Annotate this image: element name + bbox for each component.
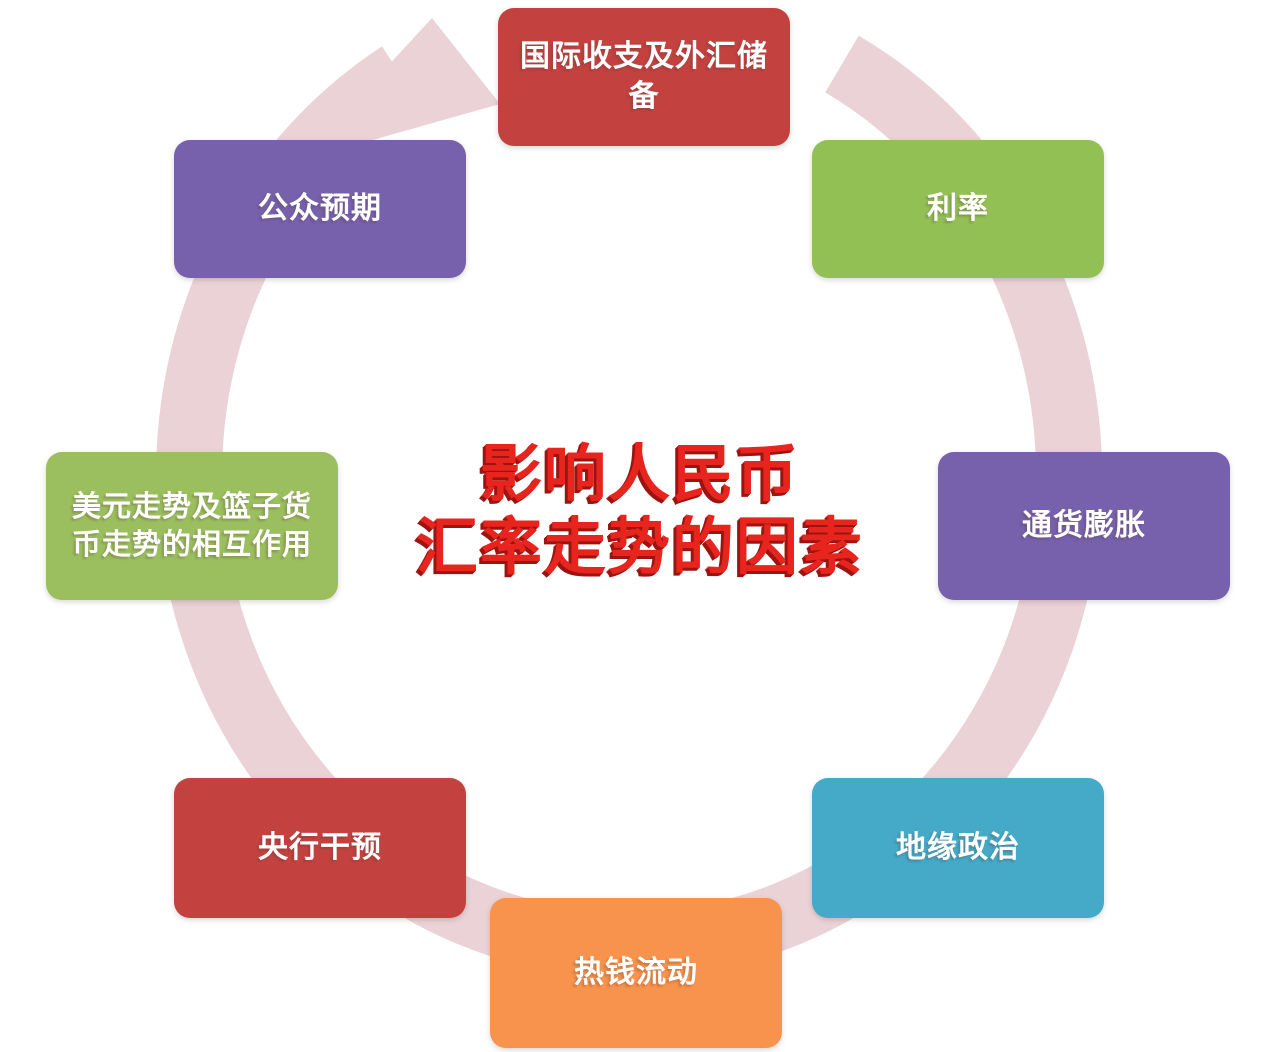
node-label-hot-money-flow: 热钱流动 — [504, 953, 768, 993]
page-title: 影响人民币 汇率走势的因素 — [390, 438, 890, 584]
node-label-public-expectations: 公众预期 — [188, 189, 452, 229]
infographic-canvas: 影响人民币 汇率走势的因素 国际收支及外汇储备 利率 通货膨胀 地缘政治 热钱流… — [0, 0, 1280, 1052]
node-label-central-bank-intervention: 央行干预 — [188, 828, 452, 868]
title-line-1: 影响人民币 — [390, 438, 890, 511]
node-balance-of-payments[interactable]: 国际收支及外汇储备 — [498, 8, 790, 146]
title-line-2: 汇率走势的因素 — [390, 511, 890, 584]
node-label-balance-of-payments: 国际收支及外汇储备 — [512, 37, 776, 116]
node-label-inflation: 通货膨胀 — [952, 506, 1216, 546]
node-public-expectations[interactable]: 公众预期 — [174, 140, 466, 278]
node-central-bank-intervention[interactable]: 央行干预 — [174, 778, 466, 918]
node-usd-and-basket-currency[interactable]: 美元走势及篮子货币走势的相互作用 — [46, 452, 338, 600]
node-interest-rate[interactable]: 利率 — [812, 140, 1104, 278]
node-label-geopolitics: 地缘政治 — [826, 828, 1090, 868]
node-geopolitics[interactable]: 地缘政治 — [812, 778, 1104, 918]
node-label-usd-and-basket-currency: 美元走势及篮子货币走势的相互作用 — [60, 488, 324, 565]
node-hot-money-flow[interactable]: 热钱流动 — [490, 898, 782, 1048]
node-inflation[interactable]: 通货膨胀 — [938, 452, 1230, 600]
node-label-interest-rate: 利率 — [826, 189, 1090, 229]
